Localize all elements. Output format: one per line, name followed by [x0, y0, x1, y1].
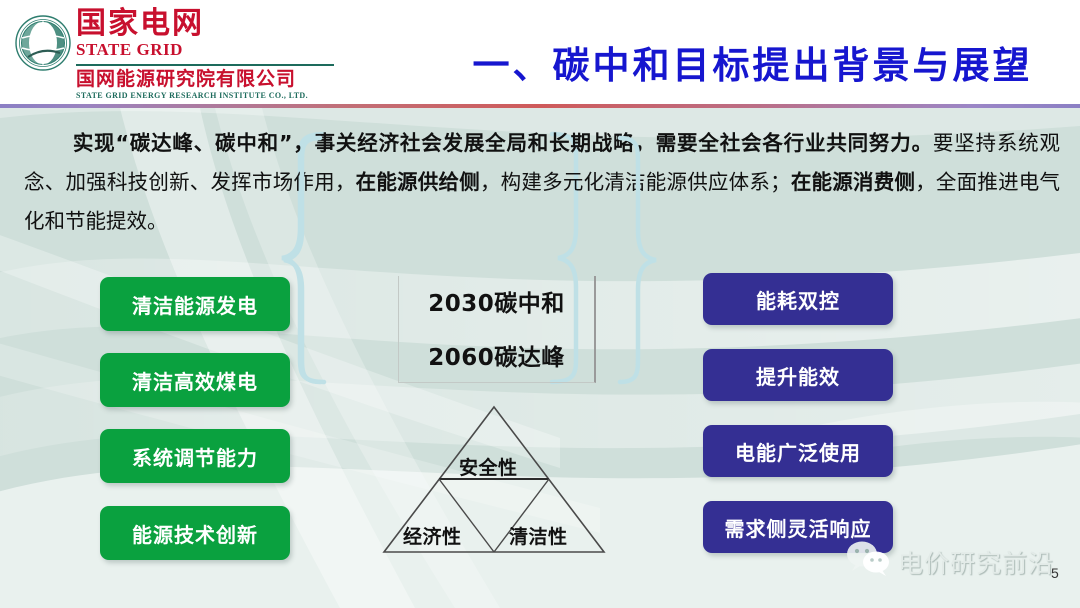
triangle-label-security: 安全性: [459, 453, 518, 480]
carbon-goal-box: 2030碳中和 2060碳达峰: [398, 276, 596, 383]
state-grid-globe-logo-icon: [14, 14, 72, 72]
institute-name-cn: 国网能源研究院有限公司: [76, 68, 296, 90]
demand-item-widespread-electricity[interactable]: 电能广泛使用: [703, 425, 893, 477]
institute-name-en: STATE GRID ENERGY RESEARCH INSTITUTE CO.…: [76, 91, 308, 100]
page-number: 5: [1051, 565, 1059, 581]
logo-divider-rule: [76, 64, 334, 66]
demand-item-dual-energy-control[interactable]: 能耗双控: [703, 273, 893, 325]
watermark-text: 电价研究前沿: [898, 544, 1054, 580]
brand-logo-block: 国家电网 STATE GRID 国网能源研究院有限公司 STATE GRID E…: [8, 6, 338, 98]
slide-header: 国家电网 STATE GRID 国网能源研究院有限公司 STATE GRID E…: [0, 0, 1080, 104]
wechat-icon: [846, 540, 892, 583]
triangle-label-economy: 经济性: [403, 522, 462, 549]
demand-item-improve-efficiency[interactable]: 提升能效: [703, 349, 893, 401]
slide: 国家电网 STATE GRID 国网能源研究院有限公司 STATE GRID E…: [0, 0, 1080, 608]
state-grid-wordmark: 国家电网 STATE GRID: [76, 8, 204, 59]
goal-line-2060: 2060碳达峰: [399, 338, 594, 372]
supply-item-clean-power-generation[interactable]: 清洁能源发电: [100, 277, 290, 331]
triangle-label-cleanliness: 清洁性: [509, 522, 568, 549]
supply-item-energy-tech-innovation[interactable]: 能源技术创新: [100, 506, 290, 560]
state-grid-name-cn: 国家电网: [76, 8, 204, 40]
goal-line-2030: 2030碳中和: [399, 284, 594, 318]
state-grid-name-en: STATE GRID: [76, 40, 204, 59]
energy-trilemma-triangle: 安全性 经济性 清洁性: [381, 404, 607, 555]
supply-item-clean-efficient-coal[interactable]: 清洁高效煤电: [100, 353, 290, 407]
page-title: 一、碳中和目标提出背景与展望: [430, 44, 1075, 88]
wechat-watermark: 电价研究前沿: [846, 540, 1054, 583]
supply-item-system-regulation[interactable]: 系统调节能力: [100, 429, 290, 483]
